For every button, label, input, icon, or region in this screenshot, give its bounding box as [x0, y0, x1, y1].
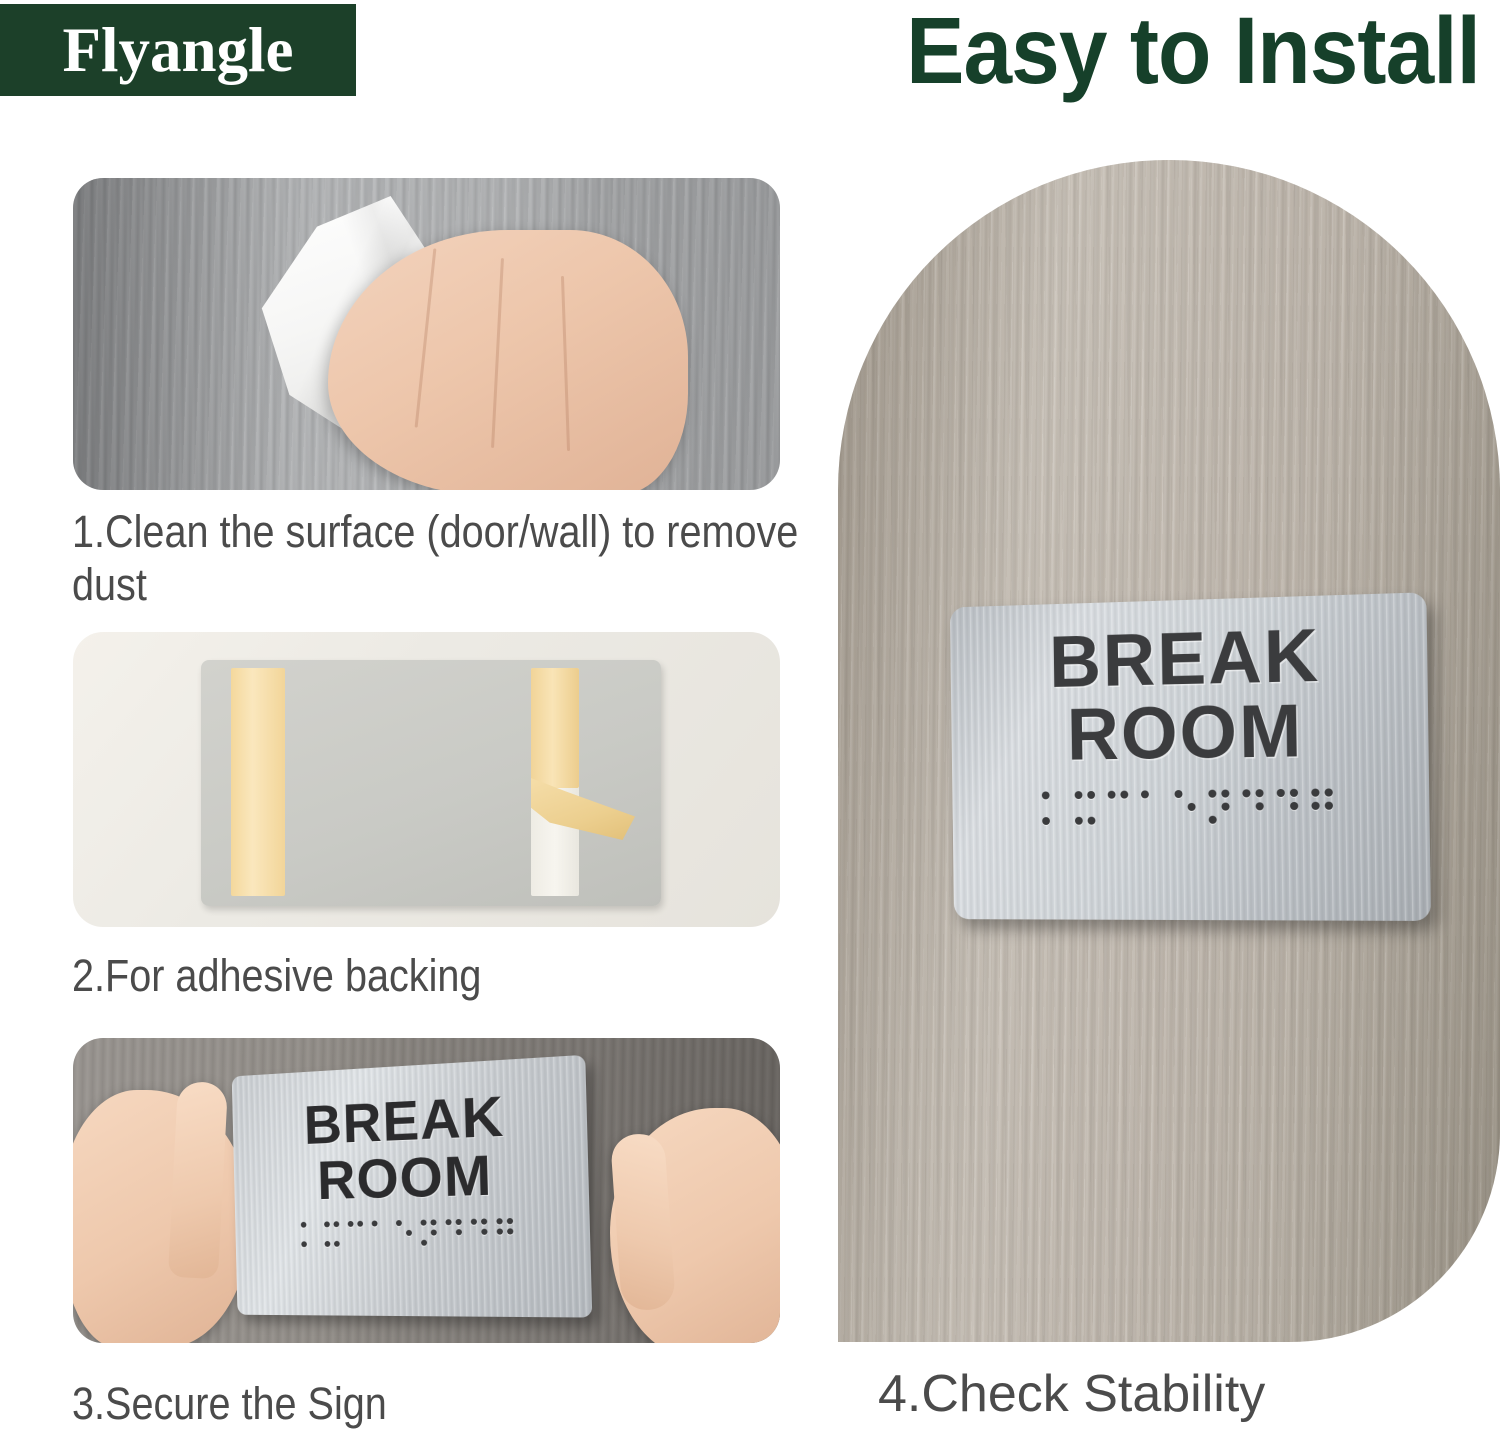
- braille-dot: [481, 1239, 487, 1245]
- step-4-photo-door-with-sign: BREAK ROOM: [838, 160, 1500, 1342]
- braille-dot: [1108, 817, 1116, 825]
- braille-dot: [1255, 789, 1263, 797]
- braille-dot: [406, 1230, 412, 1236]
- braille-dot: [456, 1239, 462, 1245]
- braille-dot: [507, 1228, 513, 1234]
- braille-dot: [301, 1241, 307, 1247]
- braille-dot: [1187, 790, 1195, 798]
- braille-cell-4: [1140, 790, 1161, 825]
- adhesive-strip-left: [231, 668, 285, 896]
- braille-dot: [1221, 803, 1229, 811]
- braille-dot: [324, 1231, 330, 1237]
- braille-dot: [1311, 789, 1319, 797]
- braille-dot: [1290, 815, 1298, 823]
- braille-dot: [497, 1239, 503, 1245]
- braille-dot: [1074, 817, 1082, 825]
- braille-dot: [1277, 815, 1285, 823]
- thumb: [610, 1132, 676, 1311]
- braille-dot: [1276, 802, 1284, 810]
- braille-cell-7: [445, 1219, 462, 1247]
- braille-dot: [1242, 789, 1250, 797]
- break-room-sign-small: BREAK ROOM: [232, 1055, 593, 1318]
- braille-dot: [1208, 816, 1216, 824]
- braille-cell-4: [372, 1221, 388, 1248]
- braille-cell-6: [1208, 790, 1229, 825]
- braille-dot: [456, 1219, 462, 1225]
- braille-cell-2: [1074, 791, 1095, 826]
- braille-dot: [1208, 803, 1216, 811]
- braille-dot: [324, 1222, 330, 1228]
- braille-dot: [481, 1229, 487, 1235]
- braille-dot: [358, 1241, 364, 1247]
- finger-crease: [561, 276, 570, 451]
- braille-dot: [1153, 803, 1161, 811]
- braille-dot: [333, 1221, 339, 1227]
- braille-dot: [1054, 817, 1062, 825]
- braille-dot: [311, 1241, 317, 1247]
- step-3-photo-secure-sign: BREAK ROOM: [73, 1038, 780, 1343]
- braille-dot: [507, 1239, 513, 1245]
- braille-cell-1: [1041, 791, 1062, 826]
- braille-dot: [301, 1222, 307, 1228]
- braille-dot: [372, 1221, 378, 1227]
- braille-dot: [1221, 816, 1229, 824]
- braille-dot: [406, 1240, 412, 1246]
- braille-cell-8: [1276, 789, 1298, 825]
- sign-back-plate: [201, 660, 661, 906]
- braille-dot: [1153, 790, 1161, 798]
- braille-dot: [1174, 803, 1182, 811]
- sign-line-2: ROOM: [1066, 693, 1303, 771]
- braille-dot: [1221, 790, 1229, 798]
- adhesive-strip-right: [531, 668, 579, 788]
- braille-dot: [1276, 789, 1284, 797]
- braille-dot: [446, 1229, 452, 1235]
- break-room-sign-large: BREAK ROOM: [950, 592, 1431, 921]
- step-2-caption: 2.For adhesive backing: [72, 950, 829, 1003]
- braille-dot: [431, 1230, 437, 1236]
- braille-dot: [421, 1240, 427, 1246]
- braille-cell-8: [471, 1219, 488, 1247]
- braille-dot: [1174, 790, 1182, 798]
- braille-dot: [1242, 802, 1250, 810]
- braille-dot: [1141, 816, 1149, 824]
- braille-dot: [357, 1231, 363, 1237]
- braille-cell-3: [348, 1221, 364, 1248]
- braille-dot: [431, 1240, 437, 1246]
- braille-dot: [382, 1230, 388, 1236]
- braille-cell-7: [1242, 789, 1264, 824]
- braille-dot: [430, 1220, 436, 1226]
- page-title: Easy to Install: [597, 0, 1480, 106]
- braille-cell-5: [396, 1220, 412, 1247]
- braille-dot: [334, 1231, 340, 1237]
- braille-dot: [1324, 802, 1332, 810]
- braille-dot: [1140, 790, 1148, 798]
- braille-dot: [1208, 790, 1216, 798]
- braille-dot: [1255, 815, 1263, 823]
- braille-dot: [382, 1240, 388, 1246]
- braille-dot: [1187, 816, 1195, 824]
- braille-dot: [396, 1220, 402, 1226]
- braille-dot: [1324, 788, 1332, 796]
- braille-dot: [507, 1218, 513, 1224]
- braille-dot: [471, 1229, 477, 1235]
- braille-dot: [301, 1232, 307, 1238]
- braille-dot: [1174, 816, 1182, 824]
- braille-dot: [1289, 789, 1297, 797]
- braille-dot: [372, 1241, 378, 1247]
- braille-dot: [1107, 791, 1115, 799]
- step-4-caption: 4.Check Stability: [878, 1366, 1498, 1423]
- braille-dot: [1041, 791, 1049, 799]
- step-3-caption: 3.Secure the Sign: [72, 1378, 829, 1431]
- left-hand-holding-sign: [73, 1090, 251, 1343]
- braille-row-large: [1041, 788, 1332, 826]
- braille-dot: [357, 1221, 363, 1227]
- braille-dot: [396, 1240, 402, 1246]
- braille-row-small: [301, 1218, 514, 1248]
- braille-dot: [456, 1229, 462, 1235]
- braille-dot: [1087, 804, 1095, 812]
- braille-dot: [1074, 804, 1082, 812]
- braille-dot: [1087, 791, 1095, 799]
- step-2-photo-adhesive-backing: [73, 632, 780, 927]
- braille-dot: [1255, 802, 1263, 810]
- braille-dot: [348, 1231, 354, 1237]
- braille-dot: [1242, 815, 1250, 823]
- braille-cell-3: [1107, 791, 1128, 826]
- index-finger: [168, 1081, 228, 1279]
- braille-dot: [1042, 804, 1050, 812]
- braille-dot: [1141, 803, 1149, 811]
- braille-cell-5: [1174, 790, 1195, 825]
- braille-dot: [1120, 816, 1128, 824]
- braille-cell-1: [301, 1222, 317, 1249]
- braille-dot: [406, 1220, 412, 1226]
- braille-dot: [446, 1240, 452, 1246]
- braille-dot: [1054, 804, 1062, 812]
- braille-dot: [1120, 791, 1128, 799]
- braille-dot: [1074, 791, 1082, 799]
- right-hand-holding-sign: [610, 1108, 780, 1343]
- sign-line-2: ROOM: [317, 1146, 493, 1208]
- braille-dot: [310, 1222, 316, 1228]
- braille-dot: [1120, 804, 1128, 812]
- braille-dot: [471, 1219, 477, 1225]
- braille-cell-2: [324, 1221, 340, 1248]
- step-1-photo-clean-surface: [73, 178, 780, 490]
- step-1-caption: 1.Clean the surface (door/wall) to remov…: [72, 506, 829, 611]
- braille-dot: [1107, 804, 1115, 812]
- braille-dot: [1042, 817, 1050, 825]
- braille-dot: [1054, 791, 1062, 799]
- braille-dot: [421, 1230, 427, 1236]
- brand-logo: Flyangle: [0, 4, 356, 96]
- braille-dot: [1311, 815, 1319, 823]
- sign-line-1: BREAK: [1049, 618, 1321, 699]
- braille-dot: [348, 1221, 354, 1227]
- brand-name: Flyangle: [63, 19, 294, 82]
- braille-dot: [1187, 803, 1195, 811]
- braille-dot: [1154, 816, 1162, 824]
- braille-dot: [1087, 817, 1095, 825]
- braille-dot: [325, 1241, 331, 1247]
- braille-dot: [421, 1220, 427, 1226]
- braille-dot: [481, 1219, 487, 1225]
- braille-dot: [310, 1232, 316, 1238]
- finger-crease: [415, 248, 437, 427]
- braille-dot: [1324, 815, 1332, 823]
- braille-cell-6: [421, 1220, 438, 1247]
- braille-dot: [497, 1229, 503, 1235]
- braille-dot: [348, 1241, 354, 1247]
- braille-dot: [334, 1241, 340, 1247]
- braille-dot: [1290, 802, 1298, 810]
- braille-dot: [1311, 802, 1319, 810]
- braille-cell-9: [496, 1218, 513, 1246]
- finger-crease: [491, 258, 504, 448]
- braille-cell-9: [1311, 788, 1333, 824]
- braille-dot: [445, 1219, 451, 1225]
- braille-dot: [396, 1230, 402, 1236]
- braille-dot: [381, 1221, 387, 1227]
- braille-dot: [372, 1231, 378, 1237]
- braille-dot: [471, 1239, 477, 1245]
- braille-dot: [496, 1218, 502, 1224]
